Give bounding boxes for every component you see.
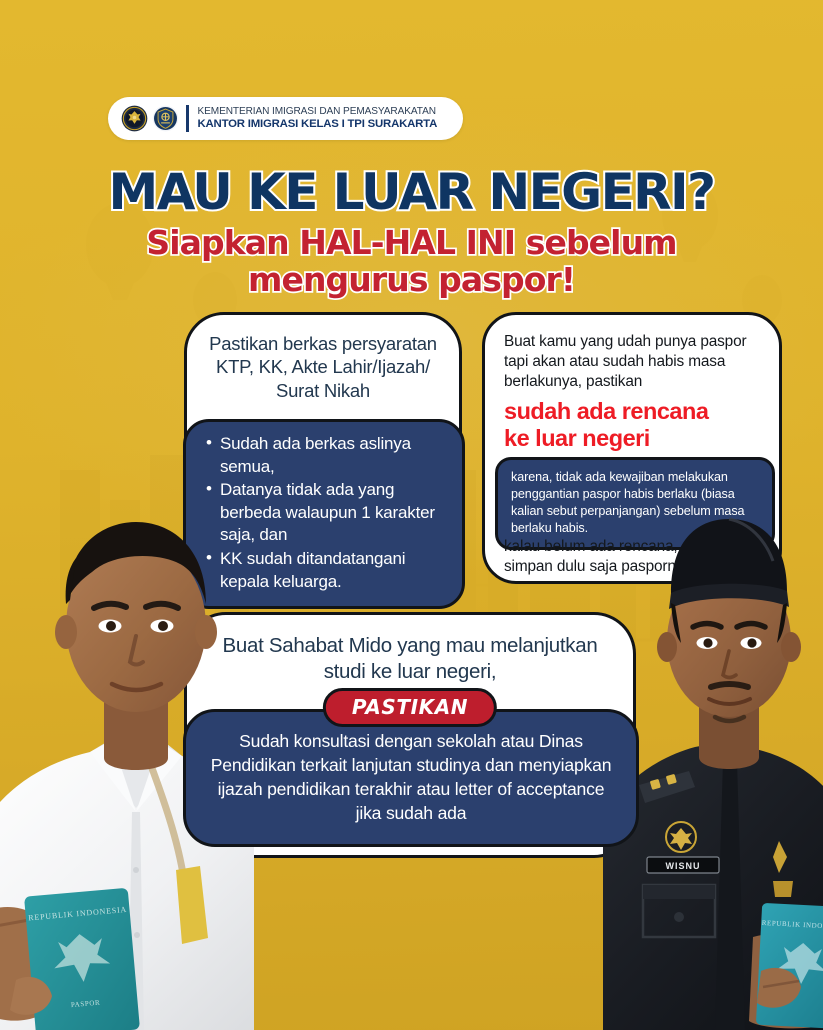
poster-subtitle-line2: mengurus paspor! bbox=[0, 261, 823, 298]
pastikan-badge: PASTIKAN bbox=[323, 688, 497, 727]
poster-title: MAU KE LUAR NEGERI? bbox=[0, 163, 823, 221]
poster-canvas: KEMENTERIAN IMIGRASI DAN PEMASYARAKATAN … bbox=[0, 0, 823, 1030]
svg-text:REPUBLIK INDONESIA: REPUBLIK INDONESIA bbox=[28, 905, 127, 923]
header-divider bbox=[186, 105, 189, 132]
card-expiring-emphasis-line2: ke luar negeri bbox=[504, 425, 763, 452]
card-study-heading: Buat Sahabat Mido yang mau melanjutkan s… bbox=[187, 615, 633, 685]
poster-subtitle-line1: Siapkan HAL-HAL INI sebelum bbox=[0, 224, 823, 261]
card-study-body-text: Sudah konsultasi dengan sekolah atau Din… bbox=[206, 730, 616, 826]
list-item: KK sudah ditandatangani kepala keluarga. bbox=[208, 548, 448, 593]
svg-text:WISNU: WISNU bbox=[666, 861, 701, 871]
card-expiring-outro-line1: kalau belum ada rencana, bbox=[504, 537, 692, 557]
card-study-body-box: Sudah konsultasi dengan sekolah atau Din… bbox=[183, 709, 639, 847]
card-expiring-passport: Buat kamu yang udah punya paspor tapi ak… bbox=[482, 312, 782, 584]
card-documents-bullet-list: Sudah ada berkas aslinya semua, Datanya … bbox=[208, 433, 448, 593]
header-ministry-label: KEMENTERIAN IMIGRASI DAN PEMASYARAKATAN bbox=[198, 106, 438, 117]
header-text: KEMENTERIAN IMIGRASI DAN PEMASYARAKATAN … bbox=[198, 106, 438, 130]
header-badge: KEMENTERIAN IMIGRASI DAN PEMASYARAKATAN … bbox=[108, 97, 463, 140]
svg-text:REPUBLIK INDONESIA: REPUBLIK INDONESIA bbox=[762, 919, 823, 931]
card-expiring-outro: kalau belum ada rencana, simpan dulu saj… bbox=[504, 537, 692, 576]
card-documents-list-box: Sudah ada berkas aslinya semua, Datanya … bbox=[183, 419, 465, 609]
card-documents: Pastikan berkas persyaratan KTP, KK, Akt… bbox=[184, 312, 462, 584]
garuda-seal-icon bbox=[121, 105, 148, 132]
list-item: Sudah ada berkas aslinya semua, bbox=[208, 433, 448, 478]
poster-subtitle: Siapkan HAL-HAL INI sebelum mengurus pas… bbox=[0, 224, 823, 299]
imigrasi-shield-icon bbox=[152, 105, 179, 132]
logo-group bbox=[121, 105, 179, 132]
card-expiring-note-box: karena, tidak ada kewajiban melakukan pe… bbox=[495, 457, 775, 550]
list-item: Datanya tidak ada yang berbeda walaupun … bbox=[208, 479, 448, 547]
card-expiring-emphasis: sudah ada rencana ke luar negeri bbox=[485, 392, 779, 451]
card-expiring-emphasis-line1: sudah ada rencana bbox=[504, 398, 763, 425]
svg-text:PASPOR: PASPOR bbox=[71, 999, 101, 1010]
card-expiring-intro: Buat kamu yang udah punya paspor tapi ak… bbox=[485, 315, 779, 392]
header-office-label: KANTOR IMIGRASI KELAS I TPI SURAKARTA bbox=[198, 118, 438, 131]
card-documents-heading: Pastikan berkas persyaratan KTP, KK, Akt… bbox=[187, 315, 459, 402]
card-study-abroad: Buat Sahabat Mido yang mau melanjutkan s… bbox=[184, 612, 636, 858]
card-expiring-note-text: karena, tidak ada kewajiban melakukan pe… bbox=[511, 469, 761, 537]
card-expiring-outro-line2: simpan dulu saja paspornya bbox=[504, 557, 692, 577]
